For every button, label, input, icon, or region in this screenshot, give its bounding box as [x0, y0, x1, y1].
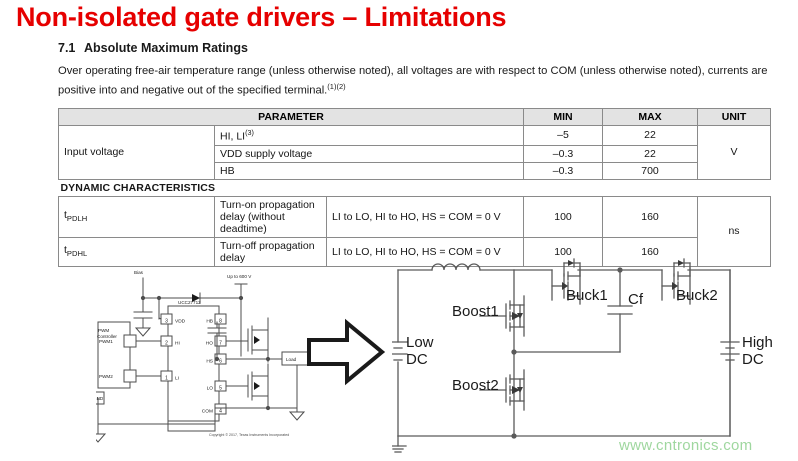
cell-param-vdd: VDD supply voltage	[215, 145, 524, 162]
watermark: www.cntronics.com	[619, 437, 752, 454]
pin-number-6: 6	[219, 359, 222, 365]
label-gnd: GND	[96, 396, 104, 401]
cell-max: 160	[603, 196, 698, 237]
pin-number-1: 1	[165, 376, 168, 382]
label-boost1: Boost1	[452, 303, 499, 320]
cell-max: 22	[603, 126, 698, 146]
section-number: 7.1	[58, 41, 84, 55]
pin-name-com: COM	[202, 409, 213, 415]
param-text: HI, LI	[220, 131, 245, 143]
column-header-parameter: PARAMETER	[59, 109, 524, 126]
cell-param-hb: HB	[215, 162, 524, 179]
pin-name-li: LI	[175, 376, 179, 382]
cell-name-tpdlh: Turn-on propagation delay (without deadt…	[215, 196, 327, 237]
pin-number-8: 8	[219, 319, 222, 325]
cell-min: –0.3	[524, 145, 603, 162]
block-arrow-icon	[305, 318, 387, 386]
pin-name-hb: HB	[206, 319, 213, 325]
label-device: UCC27712	[178, 300, 201, 305]
pin-number-5: 5	[219, 386, 222, 392]
cell-min: –5	[524, 126, 603, 146]
column-header-max: MAX	[603, 109, 698, 126]
section-row-label: DYNAMIC CHARACTERISTICS	[59, 179, 771, 196]
pin-name-vdd: VDD	[175, 319, 186, 325]
symbol-subscript: PDLH	[67, 215, 87, 224]
pin-name-hs: HS	[206, 359, 213, 365]
label-high-dc-2: DC	[742, 351, 764, 368]
symbol-subscript: PDHL	[67, 250, 87, 259]
label-cf: Cf	[628, 291, 644, 308]
label-load: Load	[286, 357, 297, 362]
pin-number-3: 3	[165, 319, 168, 325]
pin-name-hi: HI	[175, 341, 180, 347]
pin-number-4: 4	[219, 409, 222, 415]
section-heading-text: Absolute Maximum Ratings	[84, 41, 248, 55]
label-buck2: Buck2	[676, 287, 718, 304]
label-pwm1: PWM1	[99, 339, 113, 344]
column-header-min: MIN	[524, 109, 603, 126]
section-intro-text: Over operating free-air temperature rang…	[58, 65, 768, 97]
slide-page: Non-isolated gate drivers – Limitations …	[0, 0, 798, 461]
converter-schematic: Low DC High DC Boost1 Boost2 Buck1 Buck2…	[392, 256, 792, 456]
section-heading: 7.1Absolute Maximum Ratings	[58, 41, 248, 55]
pin-number-7: 7	[219, 341, 222, 347]
gate-driver-schematic: Bias Up to 600 V UCC27712 Load PWM Contr…	[96, 256, 318, 456]
label-low-dc-1: Low	[406, 334, 434, 351]
cell-symbol-tpdlh: tPDLH	[59, 196, 215, 237]
label-bias: Bias	[134, 270, 144, 275]
param-footnote: (3)	[245, 128, 254, 137]
pin-name-ho: HO	[206, 341, 213, 347]
absolute-maximum-ratings-table: PARAMETER MIN MAX UNIT Input voltage HI,…	[58, 108, 771, 267]
cell-max: 700	[603, 162, 698, 179]
table-header-row: PARAMETER MIN MAX UNIT	[59, 109, 771, 126]
label-pwm2: PWM2	[99, 374, 113, 379]
cell-max: 22	[603, 145, 698, 162]
section-intro: Over operating free-air temperature rang…	[58, 64, 772, 99]
cell-min: 100	[524, 196, 603, 237]
cell-min: –0.3	[524, 162, 603, 179]
label-buck1: Buck1	[566, 287, 608, 304]
figure-copyright: Copyright © 2017, Texas Instruments Inco…	[209, 433, 289, 437]
label-boost2: Boost2	[452, 377, 499, 394]
page-title: Non-isolated gate drivers – Limitations	[16, 2, 506, 33]
cell-param-hi-li: HI, LI(3)	[215, 126, 524, 146]
table-section-row: DYNAMIC CHARACTERISTICS	[59, 179, 771, 196]
pin-number-2: 2	[165, 341, 168, 347]
table-row: tPDLH Turn-on propagation delay (without…	[59, 196, 771, 237]
section-intro-footnotes: (1)(2)	[327, 82, 345, 91]
cell-unit-voltage: V	[698, 126, 771, 180]
label-low-dc-2: DC	[406, 351, 428, 368]
label-hv-rail: Up to 600 V	[227, 274, 252, 279]
column-header-unit: UNIT	[698, 109, 771, 126]
cell-input-voltage-group: Input voltage	[59, 126, 215, 180]
cell-conditions-tpdlh: LI to LO, HI to HO, HS = COM = 0 V	[327, 196, 524, 237]
table-row: Input voltage HI, LI(3) –5 22 V	[59, 126, 771, 146]
label-controller-1: PWM	[98, 328, 109, 333]
label-high-dc-1: High	[742, 334, 773, 351]
pin-name-lo: LO	[207, 386, 214, 392]
